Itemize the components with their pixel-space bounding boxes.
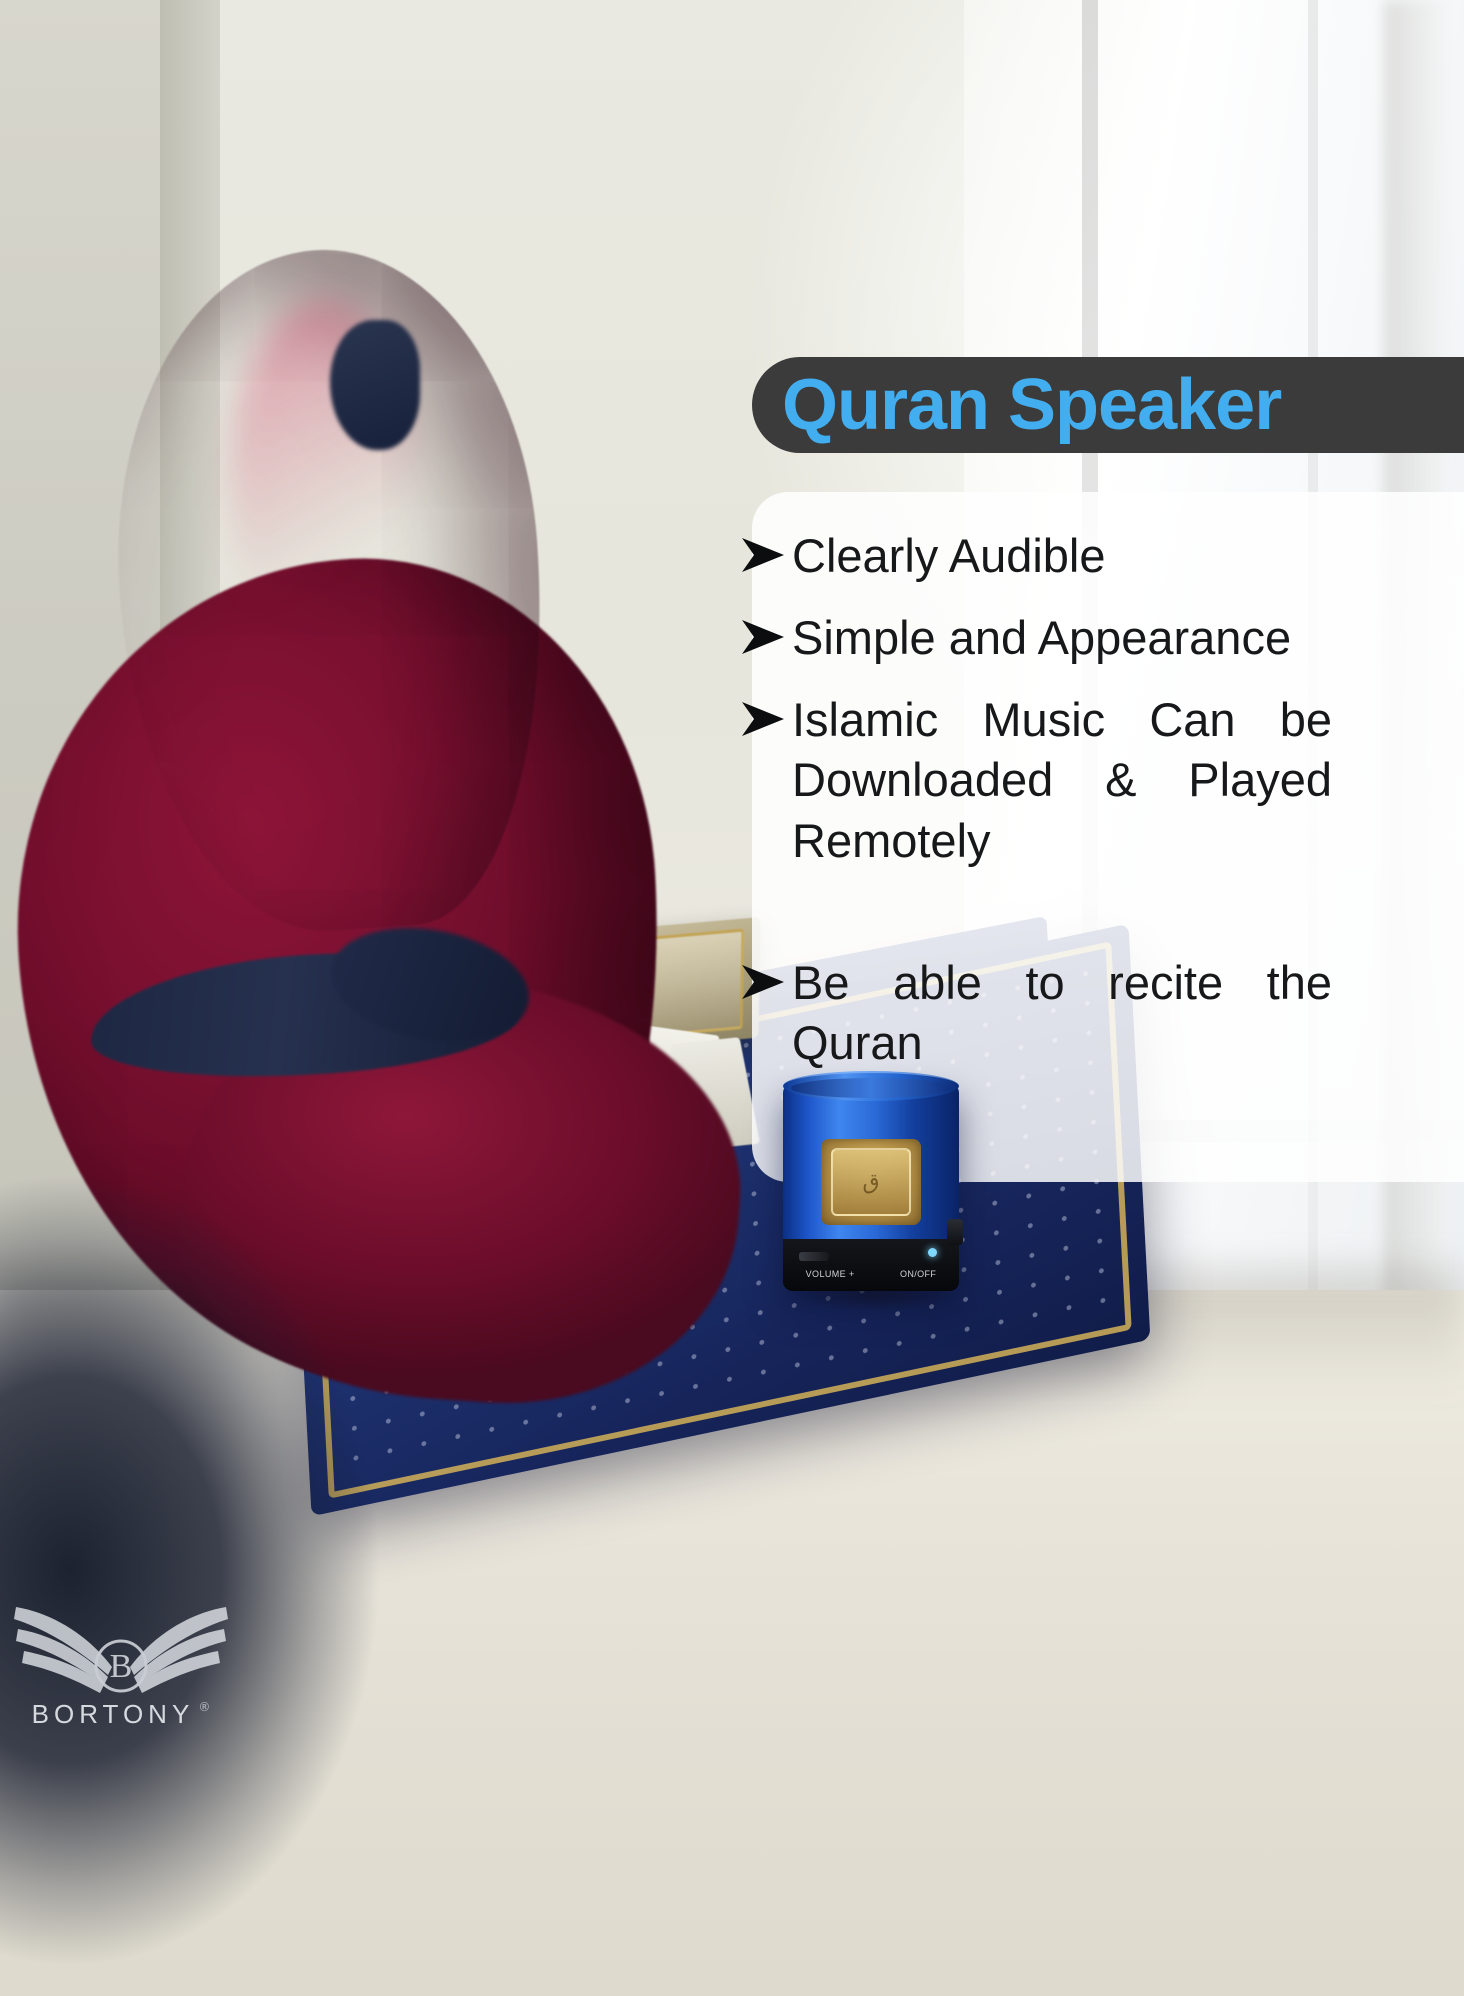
feature-text: Simple and Appearance xyxy=(792,608,1332,668)
quran-speaker-product: ق VOLUME + ON/OFF xyxy=(783,1083,959,1291)
headline-banner: Quran Speaker xyxy=(752,357,1464,453)
arrow-right-icon xyxy=(734,536,792,574)
winged-b-emblem-icon: B xyxy=(12,1567,230,1697)
list-item: Clearly Audible xyxy=(752,526,1464,586)
speaker-base: VOLUME + ON/OFF xyxy=(783,1239,959,1291)
feature-text: Islamic Music Can be Downloaded & Played… xyxy=(792,690,1332,931)
quran-emblem-icon: ق xyxy=(821,1139,921,1225)
list-item: Islamic Music Can be Downloaded & Played… xyxy=(752,690,1464,931)
feature-list: Clearly Audible Simple and Appearance Is… xyxy=(752,526,1464,1133)
power-led-icon xyxy=(928,1248,937,1257)
brand-wordmark: BORTONY ® xyxy=(32,1699,211,1730)
svg-text:B: B xyxy=(110,1648,133,1685)
onoff-label: ON/OFF xyxy=(900,1269,936,1279)
arrow-right-icon xyxy=(734,618,792,656)
volume-label: VOLUME + xyxy=(806,1269,855,1279)
feature-text: Clearly Audible xyxy=(792,526,1332,586)
quran-emblem-glyph: ق xyxy=(821,1139,921,1225)
arrow-right-icon xyxy=(734,700,792,738)
product-advertisement-poster: B BORTONY ® Quran Speaker Clearly Audibl… xyxy=(0,0,1464,1996)
speaker-top-ring xyxy=(791,1078,951,1098)
page-title: Quran Speaker xyxy=(782,369,1281,441)
volume-slider[interactable] xyxy=(799,1252,829,1261)
power-knob[interactable] xyxy=(947,1219,963,1245)
registered-mark: ® xyxy=(198,1701,210,1713)
list-item: Simple and Appearance xyxy=(752,608,1464,668)
praying-woman-face xyxy=(330,320,420,450)
speaker-control-labels: VOLUME + ON/OFF xyxy=(783,1269,959,1279)
brand-name: BORTONY xyxy=(32,1699,195,1730)
arrow-right-icon xyxy=(734,963,792,1001)
brand-logo: B BORTONY ® xyxy=(6,1530,236,1730)
